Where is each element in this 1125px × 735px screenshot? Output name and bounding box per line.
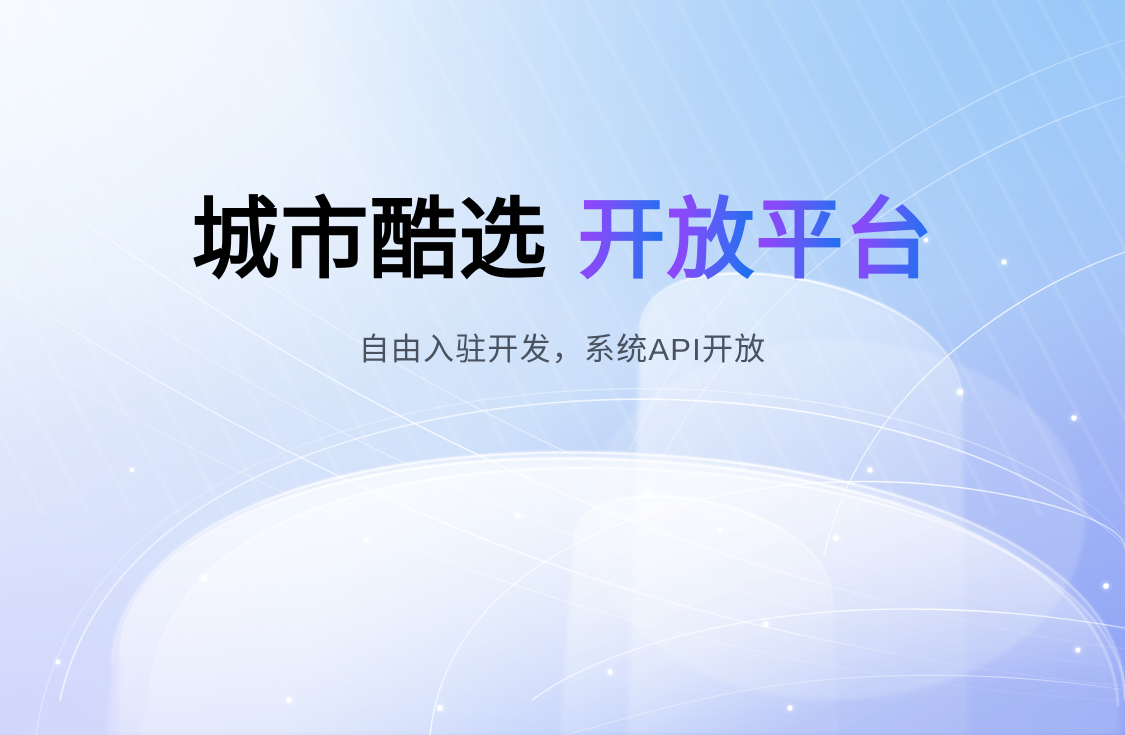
- banner-headline: 城市酷选 开 放 平 台: [191, 194, 933, 286]
- banner-subtitle: 自由入驻开发，系统API开放: [359, 324, 767, 369]
- hero-banner: 城市酷选 开 放 平 台 自由入驻开发，系统API开放: [0, 0, 1125, 735]
- headline-accent-char: 开: [577, 194, 666, 286]
- headline-accent-char: 放: [666, 194, 755, 286]
- banner-content: 城市酷选 开 放 平 台 自由入驻开发，系统API开放: [0, 0, 1125, 735]
- headline-brand-text: 城市酷选: [191, 194, 547, 286]
- headline-accent-text: 开 放 平 台: [577, 194, 933, 286]
- headline-accent-char: 平: [756, 194, 845, 286]
- headline-accent-char: 台: [845, 194, 934, 286]
